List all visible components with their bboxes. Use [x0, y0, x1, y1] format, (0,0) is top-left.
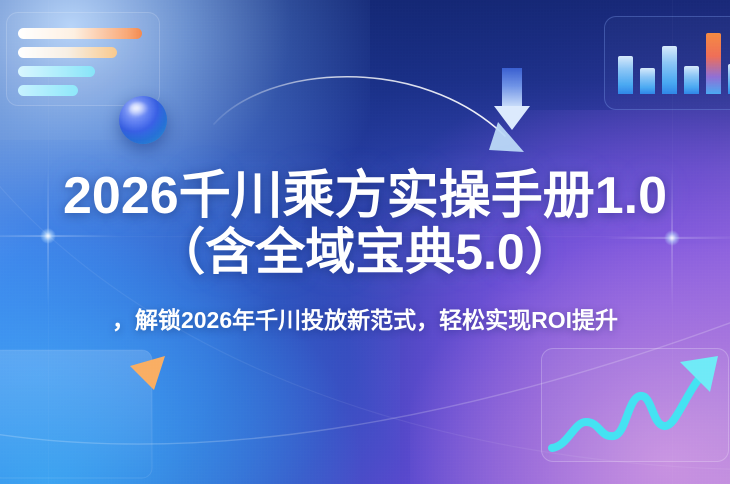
headline-line-2: （含全域宝典5.0） [0, 224, 730, 280]
promo-banner: 2026千川乘方实操手册1.0 （含全域宝典5.0） ，解锁2026年千川投放新… [0, 0, 730, 484]
headline-block: 2026千川乘方实操手册1.0 （含全域宝典5.0） [0, 168, 730, 280]
subtitle-text: ，解锁2026年千川投放新范式，轻松实现ROI提升 [0, 305, 730, 335]
headline-line-1: 2026千川乘方实操手册1.0 [0, 168, 730, 224]
